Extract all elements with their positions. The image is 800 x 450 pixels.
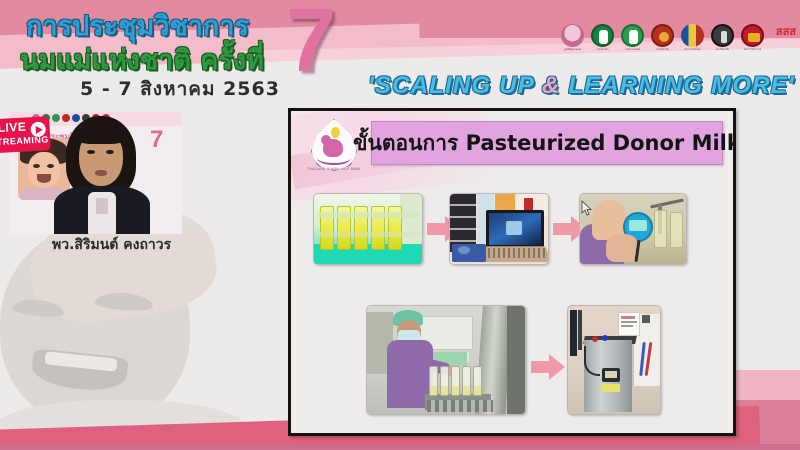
speaker-name-label: พว.สิริมนต์ คงถาวร [52,234,171,256]
sponsor-logos-row: มูลนิธิศูนย์นมแม่ กรมอนามัย กรมการแพทย์ … [560,24,800,58]
conference-slogan: 'SCALING UP & LEARNING MORE' [368,72,795,100]
photo-hand-digital-timer [579,193,687,265]
poster-edition-number: 7 [150,128,163,152]
slogan-suffix: LEARNING MORE' [560,72,794,99]
bottom-edge-strip [0,444,800,450]
presentation-screen: การประชุมวิชาการ นมแม่แห่งชาติ ครั้งที่ … [0,0,800,450]
slide-title-text: ขั้นตอนการ Pasteurized Donor Milk [353,127,736,160]
university-seal-logo: มหาวิทยาลัย [710,24,735,58]
slogan-ampersand: & [542,72,561,99]
thai-breastfeeding-foundation-logo: มูลนิธิศูนย์นมแม่ [560,24,585,58]
photo-laptop-workstation [449,193,549,265]
thaihealth-sss-logo: สสส [770,24,800,58]
slide-panel: THAILAND HUMAN MILK BANK ขั้นตอนการ Past… [288,108,736,436]
speaker-video-figure [54,116,150,234]
department-health-logo: กรมการแพทย์ [620,24,645,58]
streaming-label: STREAMING [0,134,49,147]
slogan-prefix: 'SCALING UP [368,72,542,99]
ministry-public-health-logo: กรมอนามัย [590,24,615,58]
nursing-council-logo: สภาการพยาบาล [740,24,765,58]
live-label: LIVE [0,120,27,135]
slide-title-banner: ขั้นตอนการ Pasteurized Donor Milk [371,121,723,165]
photo-pasteurizer-machine [567,305,661,415]
royal-thai-emblem-logo: สภากาชาดไทย [680,24,705,58]
arrow-step-4-to-5 [531,354,565,380]
royal-college-logo: ราชวิทยาลัย [650,24,675,58]
milk-bank-logo-caption: THAILAND HUMAN MILK BANK [303,167,365,171]
mouse-pointer [581,200,593,216]
conference-edition-number: 7 [286,0,336,86]
live-streaming-badge: LIVE STREAMING [0,116,51,153]
conference-date: 5 - 7 สิงหาคม 2563 [80,74,280,104]
photo-milk-bottle-rack [313,193,423,265]
photo-nurse-loading-bottles [366,305,526,415]
